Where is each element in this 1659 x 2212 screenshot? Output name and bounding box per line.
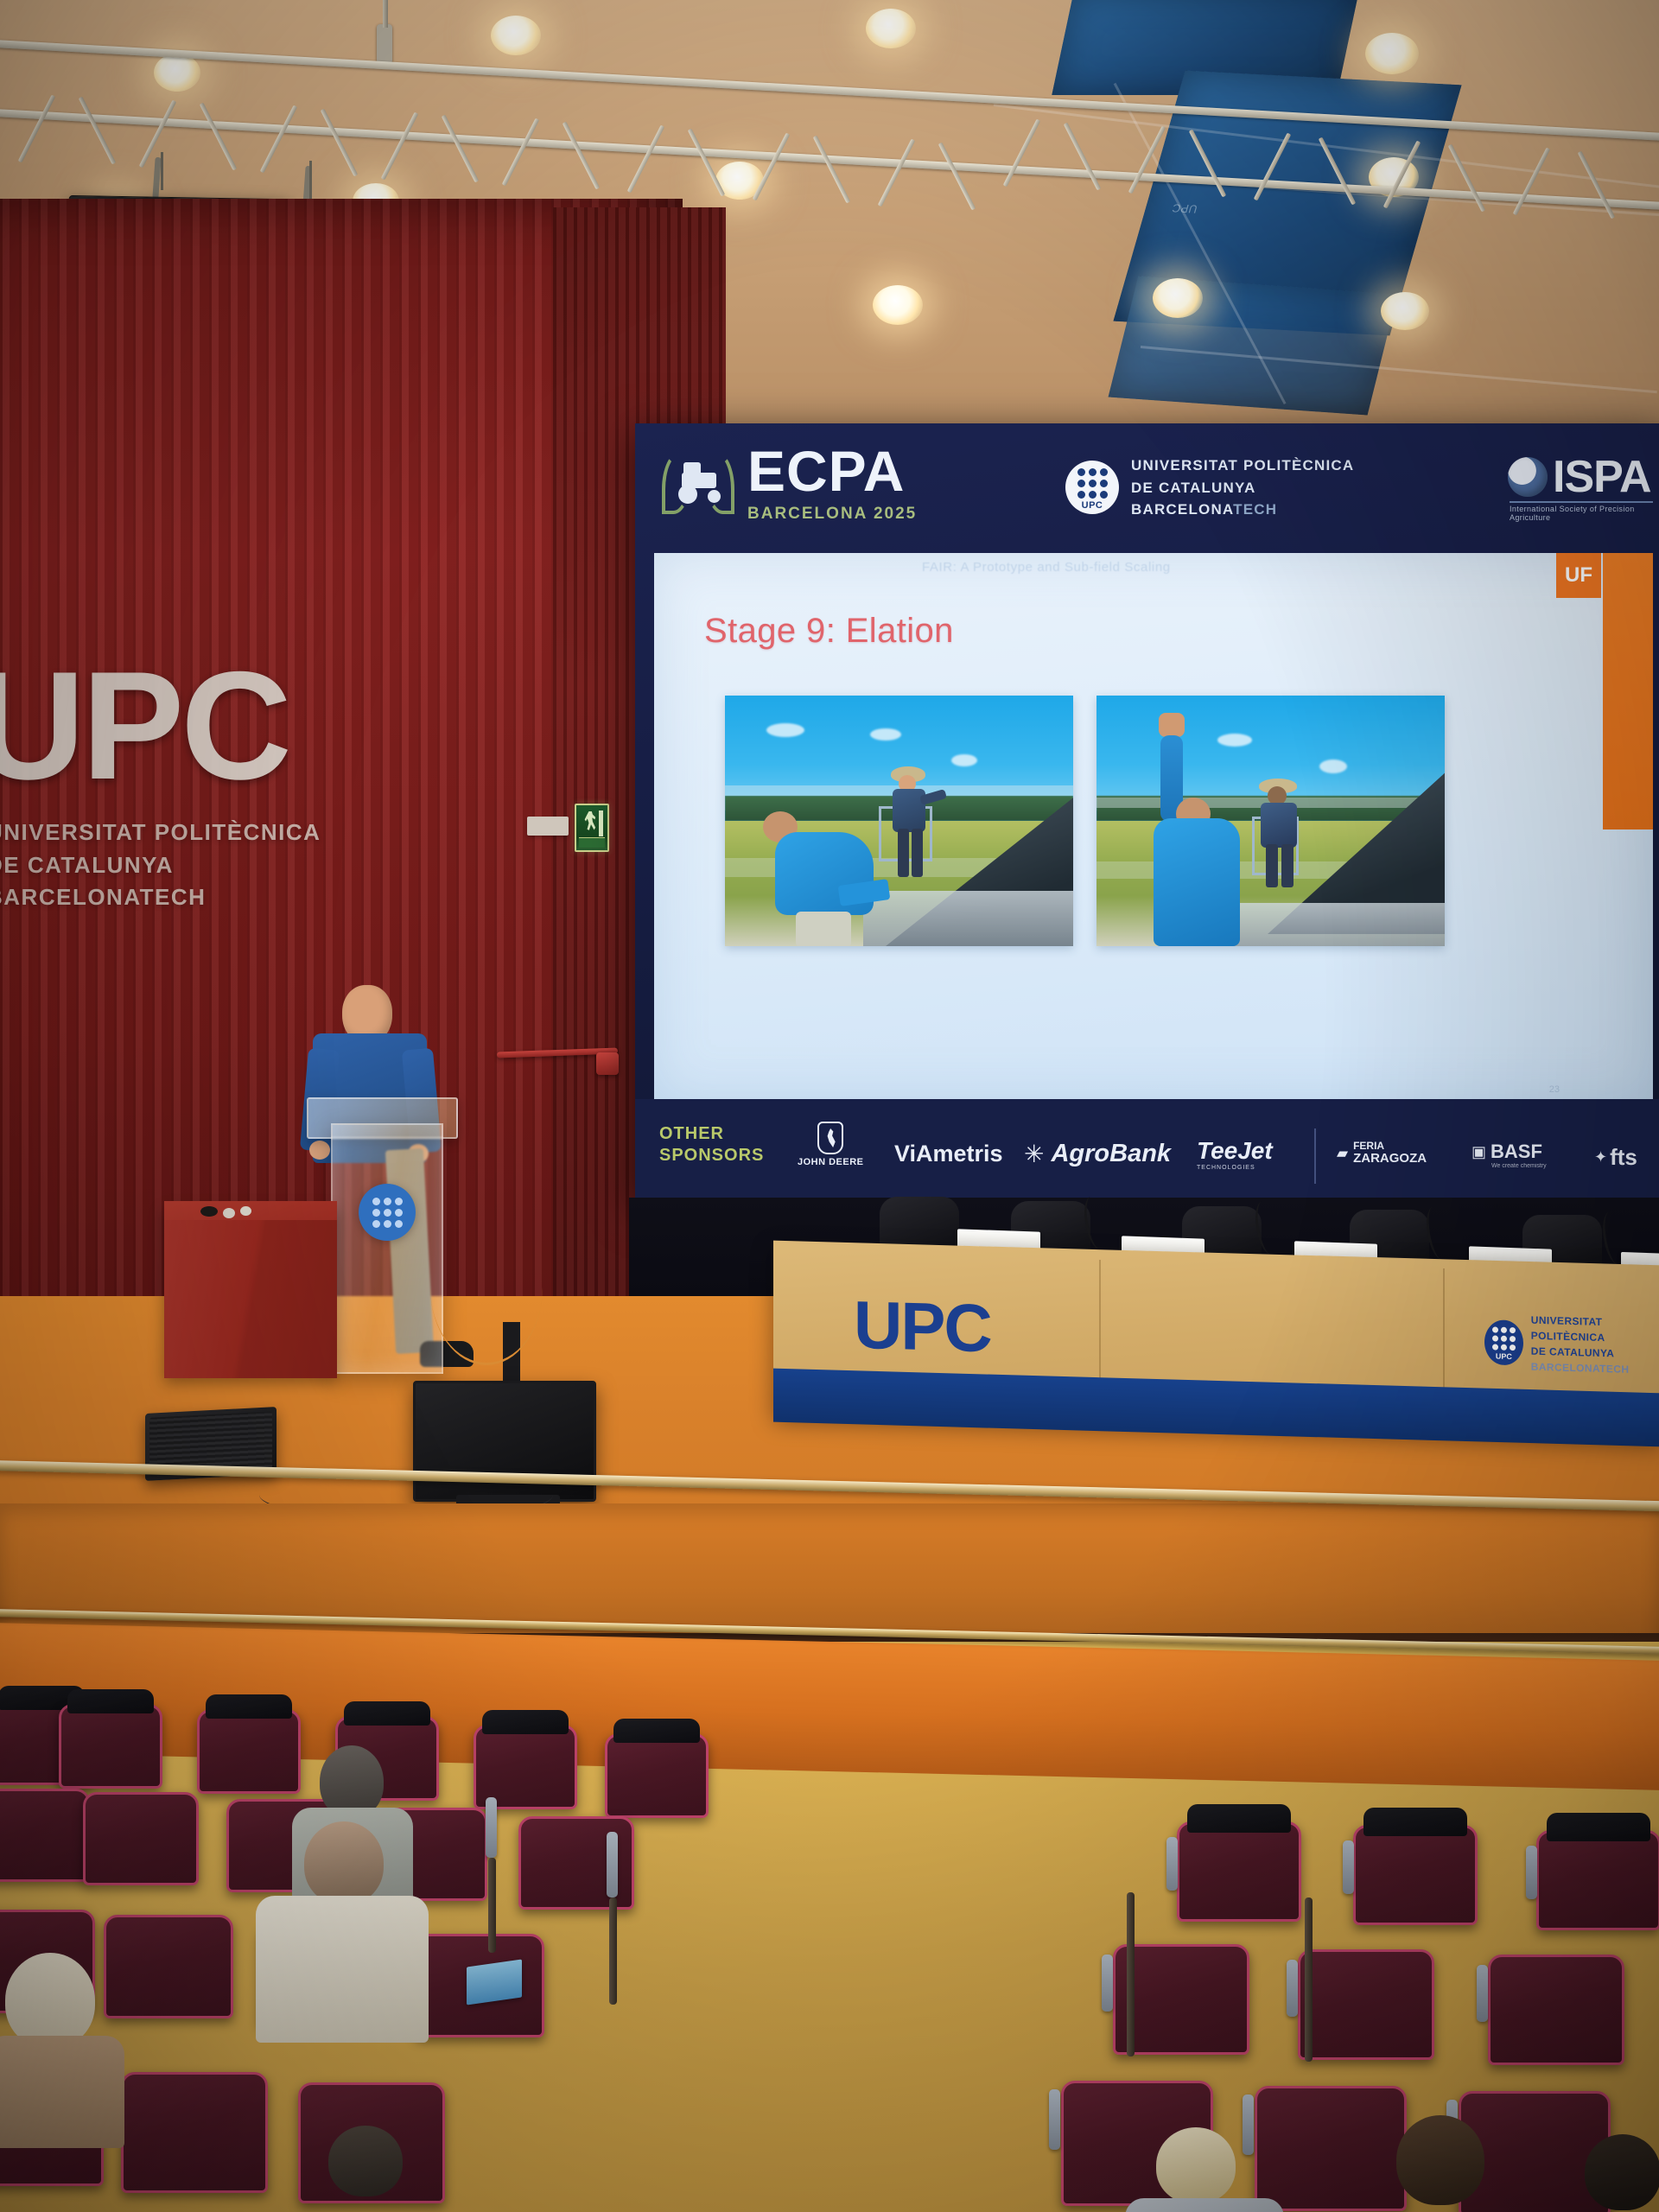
sponsor-logo-basf: ▣ BASF We create chemistry — [1471, 1141, 1547, 1169]
head-table-upc-label: UPC — [854, 1286, 991, 1368]
ispa-logo: ISPA — [1508, 451, 1651, 503]
head-table-upc-text: UNIVERSITAT POLITÈCNICA DE CATALUNYA BAR… — [1531, 1313, 1659, 1378]
seat-back — [121, 2072, 268, 2193]
deer-shield-icon — [817, 1122, 843, 1154]
seat-back — [1488, 1955, 1624, 2065]
seat-back — [1353, 1825, 1478, 1925]
downlight-4 — [1365, 33, 1419, 74]
presentation-slide: FAIR: A Prototype and Sub-field Scaling … — [654, 553, 1653, 1102]
wall-upc-acronym: UPC — [0, 657, 289, 795]
photo-person-celebrating — [1141, 713, 1250, 946]
sponsor-divider — [1314, 1128, 1316, 1184]
seat-headrest — [1187, 1804, 1292, 1832]
seat-headrest — [206, 1694, 293, 1718]
photo-leg — [1281, 844, 1294, 887]
ecpa-logo: ECPA BARCELONA 2025 — [661, 442, 917, 524]
seat-armrest — [486, 1797, 497, 1858]
seat-armrest — [1343, 1840, 1354, 1894]
seat-armrest — [1166, 1837, 1178, 1891]
sponsor-logo-viametris: ViAmetris — [894, 1141, 1003, 1167]
screen-header-band: ECPA BARCELONA 2025 UPC UNIVERSITAT POLI… — [635, 423, 1659, 551]
riser-item-dark — [200, 1206, 218, 1217]
seat-arm-assembly — [605, 1832, 622, 2005]
attendee-head — [328, 2126, 403, 2196]
sponsor-logo-agrobank: ✳ AgroBank — [1024, 1140, 1171, 1168]
seat-armrest — [1102, 1955, 1113, 2012]
screen-upc-logo: UPC UNIVERSITAT POLITÈCNICA DE CATALUNYA… — [1065, 454, 1354, 521]
sponsor-agrobank-label: AgroBank — [1051, 1140, 1171, 1168]
head-table-upc-logo: UPC UNIVERSITAT POLITÈCNICA DE CATALUNYA… — [1484, 1311, 1659, 1378]
sponsor-logo-john-deere: JOHN DEERE — [798, 1122, 864, 1167]
sponsor-teejet-label: TeeJet — [1197, 1137, 1273, 1165]
sponsor-logo-teejet: TeeJet TECHNOLOGIES — [1197, 1137, 1273, 1171]
presenter-hand-left — [309, 1141, 330, 1160]
head-table-line1: UNIVERSITAT POLITÈCNICA — [1531, 1313, 1659, 1347]
attendee — [1370, 2115, 1526, 2212]
photo-leg — [898, 829, 909, 877]
riser-item-light — [223, 1208, 235, 1218]
downlight-1 — [154, 54, 200, 92]
auditorium-seat[interactable] — [1488, 1955, 1624, 2065]
attendee-laptop[interactable] — [467, 1960, 522, 2005]
basf-square-icon: ▣ — [1471, 1143, 1486, 1161]
downlight-11 — [1153, 278, 1203, 318]
photo-leg — [1266, 844, 1278, 887]
seat-headrest — [613, 1719, 701, 1742]
lectern — [331, 1123, 443, 1374]
photo-cloud — [951, 754, 977, 766]
wall-upc-line3: BARCELONATECH — [0, 881, 321, 914]
fist-shape — [1159, 713, 1185, 737]
panel-chair — [880, 1197, 959, 1250]
riser-item-light2 — [240, 1206, 251, 1216]
sponsor-john-deere-label: JOHN DEERE — [798, 1157, 864, 1167]
wall-upc-line1: UNIVERSITAT POLITÈCNICA — [0, 817, 321, 849]
speaker-wire-1 — [161, 152, 163, 190]
seat-arm-assembly — [484, 1797, 501, 1953]
downlight-10 — [873, 285, 923, 325]
auditorium-seat[interactable] — [1353, 1825, 1478, 1925]
attendee-head — [1396, 2115, 1484, 2205]
photo-torso — [1261, 803, 1297, 848]
sponsor-logo-feria-zaragoza: ▰ FERIA ZARAGOZA — [1337, 1141, 1427, 1166]
auditorium-seat[interactable] — [1536, 1830, 1659, 1930]
attendee-head — [1585, 2134, 1659, 2210]
screen-upc-line3-a: BARCELONA — [1131, 501, 1233, 518]
sponsor-fts-label: fts — [1610, 1144, 1637, 1171]
exit-door-icon — [599, 810, 603, 836]
exit-label-strip — [579, 837, 605, 848]
upc-dot-grid-icon — [1077, 468, 1108, 499]
slide-accent-bar — [1603, 553, 1653, 829]
sponsor-label-line2: SPONSORS — [659, 1145, 764, 1166]
photo-cloud — [766, 723, 804, 737]
tractor-icon — [677, 461, 721, 504]
attendee-head — [5, 1953, 95, 2048]
sponsor-teejet-sub: TECHNOLOGIES — [1197, 1165, 1255, 1171]
photo-cloud — [1319, 760, 1347, 773]
seat-armrest — [1287, 1960, 1298, 2017]
seat-leg — [488, 1858, 496, 1953]
ispa-title: ISPA — [1553, 451, 1651, 503]
seat-headrest — [344, 1701, 431, 1725]
attendee — [285, 2126, 458, 2212]
feria-mark-icon: ▰ — [1337, 1145, 1348, 1162]
attendee — [0, 1953, 138, 2143]
field-photo-left — [725, 696, 1073, 946]
sponsor-zaragoza-label: ZARAGOZA — [1353, 1152, 1427, 1166]
field-photo-right — [1096, 696, 1445, 946]
downlight-3 — [866, 9, 916, 48]
seat-headrest — [1363, 1808, 1468, 1835]
seat-headrest — [482, 1710, 569, 1733]
truss-hanger-cable — [383, 0, 388, 28]
attendee-body — [1125, 2198, 1284, 2212]
lectern-upc-logo — [359, 1184, 416, 1241]
seat-armrest — [1477, 1965, 1488, 2022]
sponsor-logo-fts: ✦ fts — [1594, 1144, 1637, 1171]
ecpa-title: ECPA — [747, 442, 917, 499]
exit-runner-icon — [584, 811, 598, 834]
lectern-logo-dots-icon — [372, 1198, 403, 1228]
ispa-divider — [1510, 501, 1653, 503]
upc-mark-label: UPC — [1082, 500, 1103, 511]
star-icon: ✳ — [1024, 1140, 1044, 1168]
photo-cloud — [870, 728, 901, 741]
seat-headrest — [1547, 1813, 1651, 1840]
projection-screen: ECPA BARCELONA 2025 UPC UNIVERSITAT POLI… — [635, 423, 1659, 1201]
attendee-body — [256, 1896, 429, 2043]
slide-page-number: 23 — [1549, 1084, 1560, 1095]
sponsor-bar-label: OTHER SPONSORS — [659, 1123, 764, 1166]
attendee-body — [0, 2036, 124, 2148]
attendee — [1123, 2127, 1287, 2212]
screen-upc-line3-b: TECH — [1233, 501, 1277, 518]
seat-support-leg — [1123, 1892, 1139, 2056]
stage-power-cable — [430, 1210, 543, 1365]
ecpa-subtitle: BARCELONA 2025 — [747, 505, 917, 524]
seat-support-leg — [1301, 1897, 1317, 2062]
seat-armrest — [607, 1832, 618, 1897]
upc-logo-dots-icon — [1492, 1326, 1516, 1351]
stage-red-riser — [164, 1205, 337, 1378]
emergency-exit-icon — [575, 804, 609, 852]
seat-back — [59, 1704, 162, 1789]
speaker-wire-2 — [309, 161, 312, 199]
seat-back — [605, 1733, 709, 1818]
seat-back — [1536, 1830, 1659, 1930]
uf-badge: UF — [1556, 553, 1601, 598]
attendee — [1576, 2134, 1659, 2212]
photo-leg — [912, 829, 923, 877]
seat-back — [83, 1792, 199, 1885]
photo-leg-light — [796, 912, 851, 946]
wheat-wreath-icon — [661, 448, 735, 518]
seat-back — [0, 1789, 90, 1882]
tractor-front-wheel-icon — [708, 490, 721, 503]
upc-circle-logo-icon: UPC — [1484, 1319, 1523, 1365]
screen-upc-line2: DE CATALUNYA — [1131, 477, 1354, 499]
sponsor-label-line1: OTHER — [659, 1123, 764, 1145]
wall-handrail-end — [596, 1052, 619, 1075]
seat-armrest — [1526, 1846, 1537, 1899]
ispa-subtitle: International Society of Precision Agric… — [1510, 505, 1659, 522]
wall-upc-line2: DE CATALUNYA — [0, 849, 321, 882]
attendee — [256, 1821, 429, 2037]
globe-icon — [1508, 457, 1548, 497]
slide-faded-header: FAIR: A Prototype and Sub-field Scaling — [922, 560, 1171, 575]
auditorium-seat[interactable] — [0, 1789, 90, 1882]
auditorium-seat[interactable] — [1177, 1821, 1301, 1922]
wall-upc-subtitle: UNIVERSITAT POLITÈCNICA DE CATALUNYA BAR… — [0, 817, 321, 914]
wall-switch-plate — [527, 817, 569, 836]
photo-machine-panel — [863, 891, 1073, 946]
photo-person-bending — [754, 810, 893, 946]
sponsor-basf-sub: We create chemistry — [1491, 1163, 1547, 1169]
fts-mark-icon: ✦ — [1594, 1148, 1607, 1166]
screen-upc-line3: BARCELONATECH — [1131, 499, 1354, 521]
seat-headrest — [67, 1689, 155, 1713]
upc-logo-mark: UPC — [1496, 1352, 1512, 1362]
photo-person-standing — [886, 766, 946, 879]
slide-title: Stage 9: Elation — [704, 612, 954, 651]
sponsor-basf-label: BASF — [1491, 1141, 1542, 1163]
sponsor-bar: OTHER SPONSORS JOHN DEERE ViAmetris ✳ Ag… — [635, 1099, 1659, 1201]
seat-leg — [1127, 1892, 1135, 2056]
tractor-rear-wheel-icon — [678, 485, 697, 504]
photo-person-standing — [1255, 779, 1318, 887]
seat-armrest — [1049, 2089, 1060, 2150]
sponsor-viametris-label: ViAmetris — [894, 1141, 1003, 1167]
seat-back — [1177, 1821, 1301, 1922]
auditorium-seat[interactable] — [83, 1792, 199, 1885]
upc-dot-mark-icon: UPC — [1065, 461, 1119, 514]
seat-leg — [609, 1897, 617, 2005]
auditorium-seat[interactable] — [59, 1704, 162, 1789]
truss-shackle — [377, 24, 392, 64]
seat-leg — [1305, 1897, 1313, 2062]
photo-torso-blue — [1154, 818, 1240, 946]
downlight-12 — [1381, 292, 1429, 330]
conference-photo-scene: UPC — [0, 0, 1659, 2212]
photo-machine-panel — [1226, 903, 1445, 946]
downlight-2 — [491, 16, 541, 55]
attendee-head — [304, 1821, 384, 1904]
auditorium-seat[interactable] — [605, 1733, 709, 1818]
auditorium-seat[interactable] — [121, 2072, 268, 2193]
seat-back — [1298, 1949, 1434, 2060]
screen-upc-text: UNIVERSITAT POLITÈCNICA DE CATALUNYA BAR… — [1131, 454, 1354, 521]
screen-upc-line1: UNIVERSITAT POLITÈCNICA — [1131, 454, 1354, 477]
attendee-head — [1156, 2127, 1236, 2203]
auditorium-seat[interactable] — [1298, 1949, 1434, 2060]
